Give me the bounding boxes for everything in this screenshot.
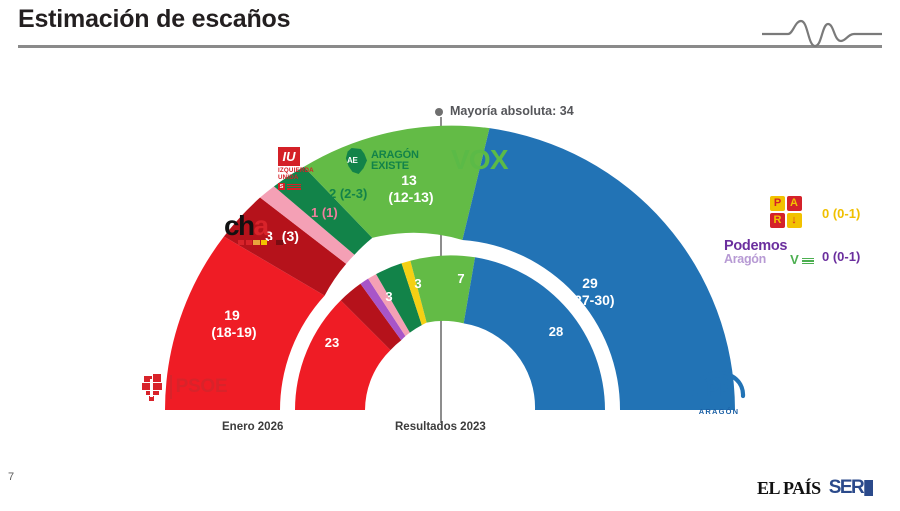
arc-inner-aragon-existe-value: 3 (414, 276, 421, 291)
pp-seagull-icon: PP (690, 366, 748, 404)
seat-arc-chart: 19 (18-19) 3 (3) 13 (12-13) 29 (27-30) 2… (150, 120, 750, 430)
wave-line-icon (762, 16, 882, 50)
aragon-map-icon: AE (345, 148, 367, 174)
podemos-v-lines-icon (802, 258, 814, 264)
majority-label: Mayoría absoluta: 34 (450, 104, 574, 118)
aragon-existe-logo: AE ARAGÓN EXISTE (345, 148, 419, 174)
psoe-wordmark: PSOE (176, 376, 228, 398)
svg-text:PP: PP (706, 380, 732, 401)
arc-inner-cha-value: 3 (385, 289, 392, 304)
iu-logo: IU IZQUIERDA UNIDA S (278, 147, 322, 190)
arc-outer-aragon-existe-label: 2 (2-3) (329, 186, 367, 201)
podemos-seat-value: 0 (0-1) (822, 249, 860, 264)
ser-logo: SER (829, 477, 874, 499)
par-letter-blocks-icon: P A R ↓ (770, 196, 802, 228)
iu-sumar-badge: S (278, 183, 322, 190)
psoe-divider (170, 375, 172, 399)
cha-stripe-icon (238, 240, 284, 245)
iu-name: IZQUIERDA UNIDA (278, 168, 322, 181)
psoe-fist-rose-icon (140, 372, 166, 402)
caption-inner-ring: Resultados 2023 (395, 421, 486, 433)
pp-sub-label: ARAGÓN (688, 407, 750, 416)
iu-mark-icon: IU (278, 147, 300, 166)
arc-inner-pp-value: 28 (549, 324, 563, 339)
par-logo: P A R ↓ (770, 196, 802, 228)
footer-brands: EL PAÍS SER (757, 477, 873, 499)
par-seat-value: 0 (0-1) (822, 206, 860, 221)
header-divider (18, 45, 882, 48)
podemos-v-icon: V (790, 254, 799, 266)
elpais-logo: EL PAÍS (757, 478, 821, 499)
majority-marker-dot (435, 108, 443, 116)
page-title: Estimación de escaños (18, 5, 290, 34)
podemos-logo: Podemos Aragón V (724, 240, 814, 266)
vox-logo: VOX (451, 144, 508, 176)
cha-wordmark: cha (224, 214, 286, 238)
aragon-existe-wordmark: ARAGÓN EXISTE (371, 150, 419, 173)
podemos-wordmark: Podemos Aragón V (724, 240, 814, 266)
arc-inner-psoe-value: 23 (325, 335, 339, 350)
slide-root: Estimación de escaños Mayoría absoluta: … (0, 0, 900, 511)
page-number: 7 (8, 471, 14, 483)
caption-outer-ring: Enero 2026 (222, 421, 283, 433)
arc-inner-vox-value: 7 (457, 271, 464, 286)
psoe-logo: PSOE (140, 372, 227, 402)
pp-logo: PP ARAGÓN (688, 366, 750, 416)
cha-logo: cha (224, 214, 286, 245)
arc-outer-iu-label: 1 (1) (311, 205, 338, 220)
